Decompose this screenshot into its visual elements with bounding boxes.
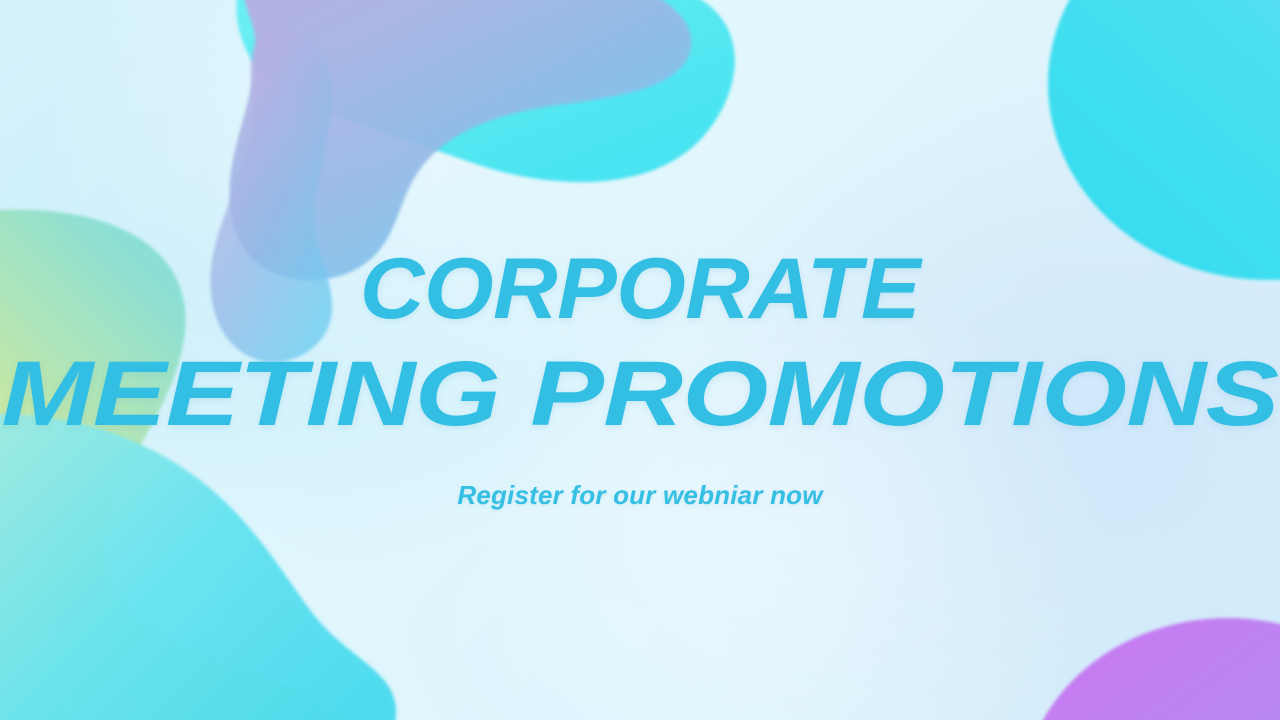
headline-line-1: CORPORATE [0, 246, 1280, 332]
headline-line-2: MEETING PROMOTIONS [0, 348, 1280, 440]
promo-poster: CORPORATE MEETING PROMOTIONS Register fo… [0, 0, 1280, 720]
purple-circle-blob [1022, 618, 1280, 720]
cyan-circle-blob [1048, 0, 1280, 280]
text-content: CORPORATE MEETING PROMOTIONS Register fo… [0, 246, 1280, 511]
subtitle-cta: Register for our webniar now [0, 480, 1280, 511]
